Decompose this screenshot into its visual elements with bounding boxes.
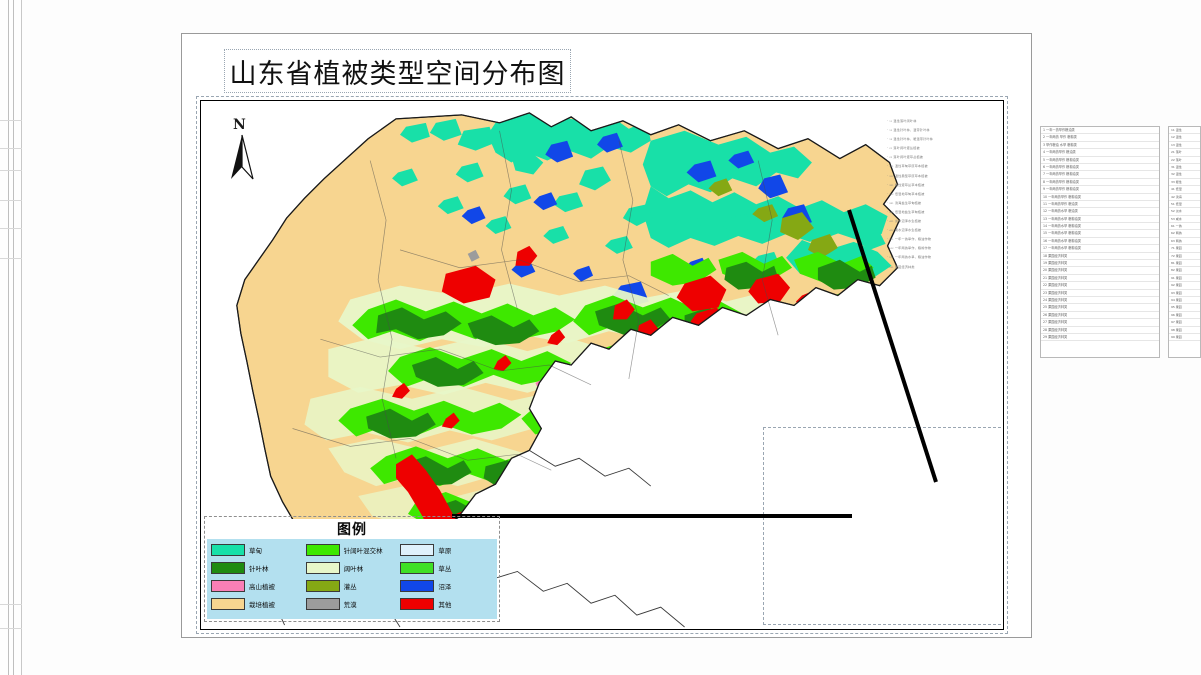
ruler-line: [13, 0, 14, 675]
legend-swatch: [400, 598, 434, 610]
legend-item[interactable]: 针叶林: [211, 560, 304, 576]
legend-swatch: [306, 544, 340, 556]
panel-row[interactable]: 25 果园经济林类: [1041, 304, 1159, 311]
detailed-class-row: · ₁₃ 温性针叶林，暖温带针叶林: [887, 135, 995, 144]
panel-row[interactable]: 20 果园经济林类: [1041, 267, 1159, 274]
detailed-class-row: · ₁₁ 温性落叶阔叶林: [887, 117, 995, 126]
panel-row[interactable]: 11 一年两熟旱作 粮油类: [1041, 201, 1159, 208]
panel-row[interactable]: 32 温性: [1169, 171, 1200, 178]
legend-swatch: [306, 580, 340, 592]
panel-row[interactable]: 17 一年两熟水旱 粮棉油类: [1041, 245, 1159, 252]
ruler-tick: [0, 170, 22, 171]
panel-row[interactable]: 13 温性: [1169, 142, 1200, 149]
legend-item[interactable]: 针阔叶混交林: [306, 542, 399, 558]
detailed-class-row: · ₃₂₁ 暖性灌草丛草本植被: [887, 181, 995, 190]
legend-swatch: [211, 562, 245, 574]
panel-row[interactable]: 22 落叶: [1169, 157, 1200, 164]
legend-swatch: [400, 544, 434, 556]
ruler-tick: [0, 120, 22, 121]
detailed-class-row: · ₂₂ 落叶阔叶灌草丛植被: [887, 153, 995, 162]
panel-row[interactable]: 62 两熟: [1169, 230, 1200, 237]
panel-row[interactable]: 31 温性: [1169, 164, 1200, 171]
panel-row[interactable]: 72 果园: [1169, 253, 1200, 260]
panel-row[interactable]: 7 一年两熟旱作 粮棉油类: [1041, 171, 1159, 178]
detailed-class-row: · ₅₁₃ 一年两熟水旱，粮油作物: [887, 253, 995, 262]
panel-row[interactable]: 24 果园经济林类: [1041, 297, 1159, 304]
legend-swatch: [306, 598, 340, 610]
legend-item[interactable]: 荒漠: [306, 596, 399, 612]
panel-row[interactable]: 82 果园: [1169, 267, 1200, 274]
north-arrow-icon: [225, 133, 259, 183]
panel-row[interactable]: 52 淡水: [1169, 208, 1200, 215]
panel-row[interactable]: 4 一年两熟旱作 粮油类: [1041, 149, 1159, 156]
panel-row[interactable]: 93 果园: [1169, 290, 1200, 297]
panel-row[interactable]: 81 果园: [1169, 260, 1200, 267]
ruler-tick: [0, 148, 22, 149]
north-label: N: [233, 117, 246, 133]
panel-row[interactable]: 33 暖性: [1169, 179, 1200, 186]
legend-swatch: [400, 562, 434, 574]
legend-label: 高山植被: [249, 581, 275, 591]
legend-label: 草原: [438, 545, 451, 555]
panel-row[interactable]: 10 一年两熟旱作 粮棉油类: [1041, 194, 1159, 201]
panel-row[interactable]: 95 果园: [1169, 304, 1200, 311]
detailed-class-row: · ₃₃₁ 滨海盐生草甸植被: [887, 199, 995, 208]
legend-item[interactable]: 草丛: [400, 560, 493, 576]
legend-item[interactable]: 高山植被: [211, 578, 304, 594]
detailed-class-row: · ₅₂₁ 果园经济林类: [887, 263, 995, 272]
ruler-tick: [0, 228, 22, 229]
panel-row[interactable]: 96 果园: [1169, 312, 1200, 319]
ruler-line: [8, 0, 9, 675]
panel-row[interactable]: 91 果园: [1169, 275, 1200, 282]
panel-row[interactable]: 29 果园经济林类: [1041, 334, 1159, 341]
panel-row[interactable]: 18 果园经济林类: [1041, 253, 1159, 260]
panel-row[interactable]: 61 一熟: [1169, 223, 1200, 230]
panel-row[interactable]: 22 果园经济林类: [1041, 282, 1159, 289]
legend-label: 其他: [438, 599, 451, 609]
legend-items: 草甸针阔叶混交林草原针叶林阔叶林草丛高山植被灌丛沼泽栽培植被荒漠其他: [207, 539, 497, 612]
detailed-class-row: · ₅₁₂ 一年两熟旱作，粮棉作物: [887, 244, 995, 253]
panel-row[interactable]: 92 果园: [1169, 282, 1200, 289]
inset-map-selection[interactable]: [763, 427, 1004, 625]
detailed-class-row: · ₃₃₂ 低湿地盐生草甸植被: [887, 208, 995, 217]
panel-row[interactable]: 19 果园经济林类: [1041, 260, 1159, 267]
legend-item[interactable]: 沼泽: [400, 578, 493, 594]
panel-row[interactable]: 98 果园: [1169, 327, 1200, 334]
legend-label: 针阔叶混交林: [344, 545, 383, 555]
detailed-class-row: · ₅₁₁ 一年一熟旱作，粮油作物: [887, 235, 995, 244]
legend-label: 灌丛: [344, 581, 357, 591]
legend-item[interactable]: 灌丛: [306, 578, 399, 594]
ruler-tick: [0, 200, 22, 201]
detailed-class-list: · ₁₁ 温性落叶阔叶林· ₁₂ 温性针叶林，温带针叶林· ₁₃ 温性针叶林，暖…: [887, 117, 995, 417]
legend-label: 荒漠: [344, 599, 357, 609]
panel-row[interactable]: 42 滨海: [1169, 194, 1200, 201]
legend-swatch: [211, 580, 245, 592]
panel-row[interactable]: 99 果园: [1169, 334, 1200, 341]
panel-row[interactable]: 53 咸水: [1169, 216, 1200, 223]
legend-swatch: [400, 580, 434, 592]
legend-label: 针叶林: [249, 563, 269, 573]
panel-row[interactable]: 9 一年两熟旱作 粮棉油类: [1041, 186, 1159, 193]
left-ruler-strip: [0, 0, 22, 675]
panel-row[interactable]: 1 一年一熟旱作粮油类: [1041, 127, 1159, 134]
legend-item[interactable]: 栽培植被: [211, 596, 304, 612]
detailed-class-row: · ₃₁₁ 温性草甸草原草本植被: [887, 162, 995, 171]
legend-label: 栽培植被: [249, 599, 275, 609]
detailed-class-row: · ₁₂ 温性针叶林，温带针叶林: [887, 126, 995, 135]
application-window: 山东省植被类型空间分布图: [0, 0, 1201, 675]
panel-row[interactable]: 8 一年两熟旱作 粮棉油类: [1041, 179, 1159, 186]
legend-header: 图例: [207, 519, 497, 539]
class-table-panel-primary[interactable]: 1 一年一熟旱作粮油类2 一年两熟 旱作 粮棉类3 旱作粮油 水旱 粮棉类4 一…: [1040, 126, 1160, 358]
detailed-class-row: · ₄₁₁ 淡水沼泽水生植被: [887, 217, 995, 226]
panel-row[interactable]: 5 一年两熟旱作 粮棉油类: [1041, 157, 1159, 164]
panel-row[interactable]: 11 温性: [1169, 127, 1200, 134]
panel-row[interactable]: 51 低湿: [1169, 201, 1200, 208]
ruler-tick: [0, 604, 22, 605]
legend-selection[interactable]: 图例 草甸针阔叶混交林草原针叶林阔叶林草丛高山植被灌丛沼泽栽培植被荒漠其他: [204, 516, 500, 622]
legend-label: 草丛: [438, 563, 451, 573]
legend-swatch: [211, 544, 245, 556]
panel-row[interactable]: 21 落叶: [1169, 149, 1200, 156]
panel-row[interactable]: 27 果园经济林类: [1041, 319, 1159, 326]
panel-row[interactable]: 21 果园经济林类: [1041, 275, 1159, 282]
panel-row[interactable]: 15 一年两熟水旱 粮棉油类: [1041, 230, 1159, 237]
detailed-class-row: · ₃₁₂ 温性典型草原草本植被: [887, 172, 995, 181]
panel-row[interactable]: 14 一年两熟水旱 粮棉油类: [1041, 223, 1159, 230]
north-arrow: N: [225, 117, 259, 183]
page-title[interactable]: 山东省植被类型空间分布图: [225, 50, 570, 92]
panel-row[interactable]: 16 一年两熟水旱 粮棉油类: [1041, 238, 1159, 245]
panel-row[interactable]: 71 果园: [1169, 245, 1200, 252]
panel-row[interactable]: 23 果园经济林类: [1041, 290, 1159, 297]
panel-row[interactable]: 97 果园: [1169, 319, 1200, 326]
legend-label: 草甸: [249, 545, 262, 555]
panel-row[interactable]: 63 两熟: [1169, 238, 1200, 245]
panel-row[interactable]: 2 一年两熟 旱作 粮棉类: [1041, 134, 1159, 141]
panel-row[interactable]: 6 一年两熟旱作 粮棉油类: [1041, 164, 1159, 171]
panel-row[interactable]: 12 一年两熟水旱 粮油类: [1041, 208, 1159, 215]
detailed-class-row: · ₂₁ 落叶阔叶灌丛植被: [887, 144, 995, 153]
panel-row[interactable]: 26 果园经济林类: [1041, 312, 1159, 319]
panel-row[interactable]: 94 果园: [1169, 297, 1200, 304]
class-table-panel-secondary[interactable]: 11 温性12 温性13 温性21 落叶22 落叶31 温性32 温性33 暖性…: [1168, 126, 1201, 358]
legend-title: 图例: [337, 519, 367, 539]
legend-item[interactable]: 草甸: [211, 542, 304, 558]
detailed-class-row: · ₃₂₂ 低湿地草甸草本植被: [887, 190, 995, 199]
panel-row[interactable]: 12 温性: [1169, 134, 1200, 141]
legend-swatch: [211, 598, 245, 610]
legend-item[interactable]: 草原: [400, 542, 493, 558]
legend-box[interactable]: 图例 草甸针阔叶混交林草原针叶林阔叶林草丛高山植被灌丛沼泽栽培植被荒漠其他: [207, 519, 497, 619]
legend-swatch: [306, 562, 340, 574]
panel-row[interactable]: 13 一年两熟水旱 粮棉油类: [1041, 216, 1159, 223]
legend-label: 阔叶林: [344, 563, 364, 573]
panel-row[interactable]: 3 旱作粮油 水旱 粮棉类: [1041, 142, 1159, 149]
legend-item[interactable]: 其他: [400, 596, 493, 612]
ruler-tick: [0, 258, 22, 259]
legend-item[interactable]: 阔叶林: [306, 560, 399, 576]
panel-row[interactable]: 28 果园经济林类: [1041, 327, 1159, 334]
ruler-tick: [0, 628, 22, 629]
legend-label: 沼泽: [438, 581, 451, 591]
panel-row[interactable]: 41 低湿: [1169, 186, 1200, 193]
detailed-class-row: · ₄₁₂ 咸水沼泽水生植被: [887, 226, 995, 235]
